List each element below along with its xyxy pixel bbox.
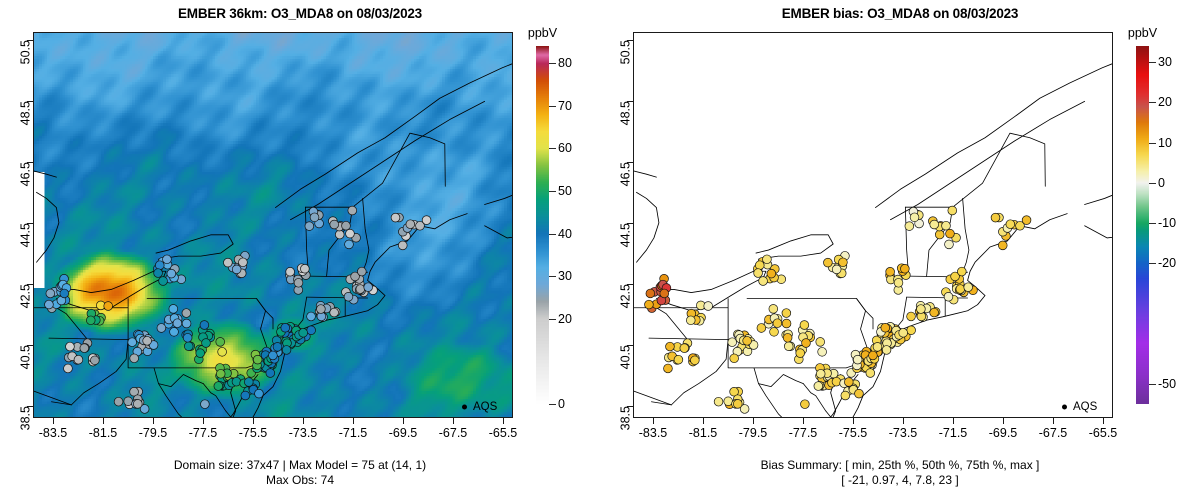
aqs-station-marker [364, 283, 373, 292]
aqs-station-marker [905, 222, 914, 231]
aqs-station-marker [307, 326, 316, 335]
aqs-station-marker [767, 269, 776, 278]
aqs-station-marker [882, 346, 891, 355]
colorbar-tick-label: 20 [1158, 95, 1172, 109]
x-axis-tick-label: -77.5 [789, 426, 818, 440]
aqs-dot-icon [462, 405, 467, 410]
aqs-station-marker [294, 278, 303, 287]
aqs-station-marker [317, 305, 326, 314]
x-axis-tick-label: -75.5 [239, 426, 268, 440]
x-axis-tick [953, 418, 954, 424]
colorbar-left: ppbV [536, 46, 549, 404]
x-axis-tick [103, 418, 104, 424]
colorbar-tick-label: 10 [1158, 136, 1172, 150]
aqs-station-marker [253, 355, 262, 364]
legend-aqs-label-right: AQS [1073, 401, 1097, 413]
aqs-station-marker [255, 389, 264, 398]
x-axis-tick-label: -79.5 [739, 426, 768, 440]
aqs-station-marker [163, 255, 172, 264]
colorbar-tick-label: 20 [558, 312, 572, 326]
x-axis-tick [853, 418, 854, 424]
aqs-station-marker [664, 364, 673, 373]
colorbar-gradient-right [1136, 46, 1149, 404]
y-axis-tick-label: 42.5 [18, 284, 32, 308]
y-axis-left: 38.540.542.544.546.548.550.5 [0, 32, 33, 418]
x-axis-tick-label: -73.5 [289, 426, 318, 440]
aqs-station-marker [201, 400, 210, 409]
aqs-station-marker [281, 323, 290, 332]
aqs-station-marker [104, 302, 113, 311]
aqs-station-marker [196, 349, 205, 358]
aqs-station-marker [335, 230, 344, 239]
aqs-station-marker [770, 327, 779, 336]
aqs-station-marker [784, 342, 793, 351]
colorbar-tick-label: -20 [1158, 256, 1176, 270]
aqs-station-marker [782, 309, 791, 318]
aqs-station-marker [832, 377, 841, 386]
x-axis-tick-label: -83.5 [39, 426, 68, 440]
aqs-station-marker [157, 324, 166, 333]
aqs-station-marker [660, 289, 669, 298]
aqs-station-marker [286, 267, 295, 276]
x-axis-tick [653, 418, 654, 424]
aqs-station-marker [182, 309, 191, 318]
aqs-station-marker [1016, 221, 1025, 230]
x-axis-tick-label: -73.5 [889, 426, 918, 440]
aqs-station-marker [391, 213, 400, 222]
colorbar-tick [1149, 384, 1156, 385]
aqs-station-marker [46, 289, 55, 298]
aqs-station-marker [244, 378, 253, 387]
colorbar-tick-label: 80 [558, 56, 572, 70]
y-axis-tick-label: 48.5 [618, 101, 632, 125]
aqs-station-marker [832, 265, 841, 274]
aqs-station-marker [763, 255, 772, 264]
aqs-station-marker [944, 292, 953, 301]
aqs-station-marker [159, 277, 168, 286]
aqs-station-marker [690, 356, 699, 365]
aqs-station-marker [133, 399, 142, 408]
aqs-station-marker [305, 222, 314, 231]
aqs-station-marker [839, 258, 848, 267]
aqs-station-marker [714, 397, 723, 406]
colorbar-tick [549, 191, 556, 192]
aqs-station-marker [269, 351, 278, 360]
aqs-station-marker [183, 333, 192, 342]
aqs-station-marker [674, 355, 683, 364]
aqs-station-marker [894, 278, 903, 287]
colorbar-tick-label: 40 [558, 227, 572, 241]
aqs-station-marker [917, 305, 926, 314]
x-axis-tick [753, 418, 754, 424]
colorbar-tick-label: 70 [558, 99, 572, 113]
aqs-station-marker [769, 304, 778, 313]
figure-canvas: EMBER 36km: O3_MDA8 on 08/03/2023 AQS -8… [0, 0, 1200, 502]
x-axis-left: -83.5-81.5-79.5-77.5-75.5-73.5-71.5-69.5… [33, 418, 513, 444]
aqs-station-marker [802, 339, 811, 348]
colorbar-tick-label: 30 [1158, 55, 1172, 69]
aqs-station-marker [645, 300, 654, 309]
y-axis-tick-label: 40.5 [18, 345, 32, 369]
aqs-station-marker [886, 267, 895, 276]
colorbar-tick-label: -10 [1158, 216, 1176, 230]
colorbar-gradient-left [536, 46, 549, 404]
x-axis-tick-label: -81.5 [689, 426, 718, 440]
aqs-station-marker [869, 351, 878, 360]
x-axis-tick [303, 418, 304, 424]
aqs-station-marker [342, 221, 351, 230]
aqs-station-marker [942, 221, 951, 230]
aqs-station-marker [356, 285, 365, 294]
aqs-station-marker [907, 326, 916, 335]
y-axis-tick-label: 48.5 [18, 101, 32, 125]
aqs-station-marker [873, 342, 882, 351]
legend-aqs-right: AQS [1062, 401, 1106, 413]
aqs-station-marker [782, 319, 791, 328]
x-axis-tick [353, 418, 354, 424]
x-axis-tick [453, 418, 454, 424]
aqs-station-marker [853, 355, 862, 364]
x-axis-tick [803, 418, 804, 424]
caption-max-obs: Max Obs: 74 [0, 473, 600, 488]
aqs-station-marker [866, 369, 875, 378]
x-axis-tick [703, 418, 704, 424]
y-axis-tick-label: 42.5 [618, 284, 632, 308]
aqs-station-marker [728, 338, 737, 347]
y-axis-tick-label: 44.5 [18, 223, 32, 247]
colorbar-tick [549, 234, 556, 235]
aqs-station-marker [167, 269, 176, 278]
colorbar-units-left: ppbV [528, 26, 557, 40]
aqs-station-marker [66, 342, 75, 351]
aqs-station-marker [128, 338, 137, 347]
aqs-station-marker [844, 378, 853, 387]
aqs-station-marker [991, 213, 1000, 222]
colorbar-tick-label: 0 [1158, 176, 1165, 190]
aqs-station-marker [154, 269, 163, 278]
x-axis-tick-label: -65.5 [489, 426, 518, 440]
aqs-station-marker [348, 206, 357, 215]
aqs-station-marker [907, 312, 916, 321]
aqs-station-marker [202, 339, 211, 348]
y-axis-tick-label: 44.5 [618, 223, 632, 247]
x-axis-tick [153, 418, 154, 424]
plot-area-left: AQS [33, 32, 513, 418]
aqs-station-marker [273, 342, 282, 351]
aqs-station-marker [90, 356, 99, 365]
x-axis-tick-label: -69.5 [389, 426, 418, 440]
aqs-station-marker [232, 265, 241, 274]
y-axis-tick-label: 38.5 [618, 406, 632, 430]
aqs-station-marker [64, 364, 73, 373]
x-axis-tick-label: -67.5 [1039, 426, 1068, 440]
panel-title-left: EMBER 36km: O3_MDA8 on 08/03/2023 [0, 6, 600, 21]
y-axis-right: 38.540.542.544.546.548.550.5 [600, 32, 633, 418]
aqs-station-marker [956, 285, 965, 294]
x-axis-tick [403, 418, 404, 424]
aqs-station-marker [755, 261, 764, 270]
aqs-station-marker [299, 328, 308, 337]
aqs-station-marker [346, 229, 355, 238]
colorbar-tick [549, 63, 556, 64]
x-axis-tick [903, 418, 904, 424]
aqs-station-marker [945, 240, 954, 249]
caption-domain-size: Domain size: 37x47 | Max Model = 75 at (… [0, 458, 600, 473]
aqs-station-marker [155, 261, 164, 270]
aqs-monitor-points-left [34, 33, 512, 417]
x-axis-tick-label: -83.5 [639, 426, 668, 440]
x-axis-tick [53, 418, 54, 424]
aqs-station-marker [200, 321, 209, 330]
aqs-station-marker [282, 346, 291, 355]
aqs-station-marker [345, 240, 354, 249]
aqs-station-marker [310, 213, 319, 222]
x-axis-tick [253, 418, 254, 424]
x-axis-tick-label: -75.5 [839, 426, 868, 440]
colorbar-tick [1149, 62, 1156, 63]
x-axis-tick-label: -67.5 [439, 426, 468, 440]
aqs-station-marker [818, 347, 827, 356]
aqs-station-marker [899, 328, 908, 337]
aqs-station-marker [173, 319, 182, 328]
x-axis-tick [1003, 418, 1004, 424]
aqs-station-marker [45, 300, 54, 309]
aqs-station-marker [800, 321, 809, 330]
aqs-station-marker [855, 389, 864, 398]
x-axis-tick-label: -77.5 [189, 426, 218, 440]
panel-model-bias: EMBER bias: O3_MDA8 on 08/03/2023 AQS -8… [600, 0, 1200, 502]
aqs-station-marker [757, 324, 766, 333]
caption-bias-values: [ -21, 0.97, 4, 7.8, 23 ] [600, 473, 1200, 488]
colorbar-tick [549, 276, 556, 277]
colorbar-tick [1149, 183, 1156, 184]
x-axis-tick-label: -79.5 [139, 426, 168, 440]
aqs-station-marker [730, 354, 739, 363]
aqs-station-marker [783, 333, 792, 342]
colorbar-tick [1149, 102, 1156, 103]
aqs-station-marker [816, 338, 825, 347]
aqs-station-marker [86, 316, 95, 325]
aqs-station-marker [214, 382, 223, 391]
colorbar-tick-label: -50 [1158, 377, 1176, 391]
aqs-station-marker [998, 241, 1007, 250]
legend-aqs-left: AQS [462, 401, 506, 413]
aqs-station-marker [759, 277, 768, 286]
panel-title-right: EMBER bias: O3_MDA8 on 08/03/2023 [600, 6, 1200, 21]
aqs-station-marker [930, 220, 939, 229]
aqs-station-marker [881, 323, 890, 332]
x-axis-tick-label: -81.5 [89, 426, 118, 440]
x-axis-tick [503, 418, 504, 424]
colorbar-tick [1149, 143, 1156, 144]
x-axis-tick [203, 418, 204, 424]
colorbar-tick [1149, 223, 1156, 224]
aqs-station-marker [182, 319, 191, 328]
y-axis-tick-label: 46.5 [18, 162, 32, 186]
aqs-station-marker [218, 347, 227, 356]
aqs-station-marker [704, 302, 713, 311]
aqs-dot-icon [1062, 405, 1067, 410]
x-axis-tick-label: -65.5 [1089, 426, 1118, 440]
aqs-station-marker [170, 327, 179, 336]
aqs-station-marker [773, 319, 782, 328]
y-axis-tick-label: 50.5 [18, 40, 32, 64]
y-axis-tick-label: 38.5 [18, 406, 32, 430]
aqs-station-marker [216, 338, 225, 347]
aqs-station-marker [80, 344, 89, 353]
aqs-station-marker [398, 241, 407, 250]
colorbar-tick [549, 404, 556, 405]
aqs-station-marker [796, 349, 805, 358]
aqs-station-marker [910, 213, 919, 222]
aqs-station-marker [416, 221, 425, 230]
aqs-station-marker [232, 377, 241, 386]
colorbar-tick [549, 319, 556, 320]
colorbar-tick-label: 60 [558, 141, 572, 155]
aqs-station-marker [754, 269, 763, 278]
aqs-station-marker [239, 258, 248, 267]
aqs-station-marker [816, 369, 825, 378]
colorbar-tick-label: 0 [558, 397, 565, 411]
y-axis-tick-label: 46.5 [618, 162, 632, 186]
aqs-bias-points-right [634, 33, 1112, 417]
colorbar-tick [549, 148, 556, 149]
y-axis-tick-label: 50.5 [618, 40, 632, 64]
aqs-station-marker [935, 230, 944, 239]
aqs-station-marker [680, 344, 689, 353]
aqs-station-marker [646, 289, 655, 298]
x-axis-tick-label: -69.5 [989, 426, 1018, 440]
x-axis-tick [1103, 418, 1104, 424]
aqs-station-marker [184, 342, 193, 351]
aqs-station-marker [224, 258, 233, 267]
colorbar-tick [549, 106, 556, 107]
aqs-station-marker [114, 397, 123, 406]
x-axis-tick-label: -71.5 [939, 426, 968, 440]
aqs-station-marker [307, 312, 316, 321]
aqs-station-marker [964, 283, 973, 292]
y-axis-tick-label: 40.5 [618, 345, 632, 369]
colorbar-units-right: ppbV [1128, 26, 1157, 40]
aqs-station-marker [1006, 220, 1015, 229]
aqs-station-marker [801, 400, 810, 409]
legend-aqs-label-left: AQS [473, 401, 497, 413]
colorbar-tick-label: 30 [558, 269, 572, 283]
x-axis-tick [1053, 418, 1054, 424]
aqs-station-marker [686, 316, 695, 325]
colorbar-tick-label: 50 [558, 184, 572, 198]
aqs-station-marker [900, 264, 909, 273]
aqs-station-marker [946, 229, 955, 238]
caption-bias-header: Bias Summary: [ min, 25th %, 50th %, 75t… [600, 458, 1200, 473]
aqs-station-marker [74, 355, 83, 364]
aqs-station-marker [60, 289, 69, 298]
aqs-station-marker [814, 382, 823, 391]
x-axis-right: -83.5-81.5-79.5-77.5-75.5-73.5-71.5-69.5… [633, 418, 1113, 444]
aqs-station-marker [948, 206, 957, 215]
aqs-station-marker [743, 336, 752, 345]
aqs-station-marker [216, 369, 225, 378]
aqs-station-marker [266, 369, 275, 378]
aqs-station-marker [169, 304, 178, 313]
panel-model-concentration: EMBER 36km: O3_MDA8 on 08/03/2023 AQS -8… [0, 0, 600, 502]
aqs-station-marker [241, 391, 250, 400]
plot-area-right: AQS [633, 32, 1113, 418]
aqs-station-marker [143, 336, 152, 345]
x-axis-tick-label: -71.5 [339, 426, 368, 440]
aqs-station-marker [344, 292, 353, 301]
aqs-station-marker [357, 267, 366, 276]
aqs-station-marker [733, 399, 742, 408]
aqs-station-marker [130, 354, 139, 363]
aqs-station-marker [406, 220, 415, 229]
aqs-station-marker [330, 220, 339, 229]
aqs-station-marker [300, 264, 309, 273]
aqs-station-marker [841, 391, 850, 400]
colorbar-right: ppbV [1136, 46, 1149, 404]
aqs-station-marker [824, 258, 833, 267]
aqs-station-marker [957, 267, 966, 276]
aqs-station-marker [666, 342, 675, 351]
colorbar-tick [1149, 263, 1156, 264]
